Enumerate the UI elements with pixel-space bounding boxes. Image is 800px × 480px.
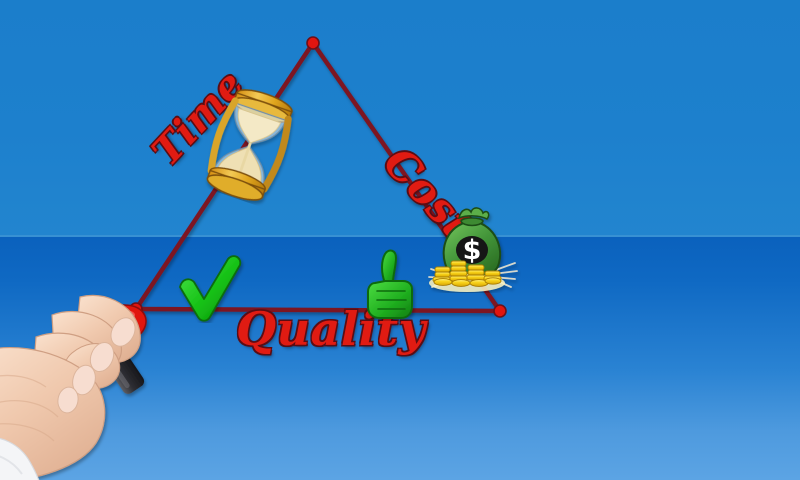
vertex-dot-apex xyxy=(307,37,319,49)
project-management-triangle-image: Time Cost Quality xyxy=(0,0,800,480)
money-bag-icon: $ xyxy=(423,205,521,293)
thumbs-up-icon xyxy=(361,249,421,321)
vertex-dot-bottom-right xyxy=(494,305,506,317)
shirt-sleeve xyxy=(0,408,86,480)
